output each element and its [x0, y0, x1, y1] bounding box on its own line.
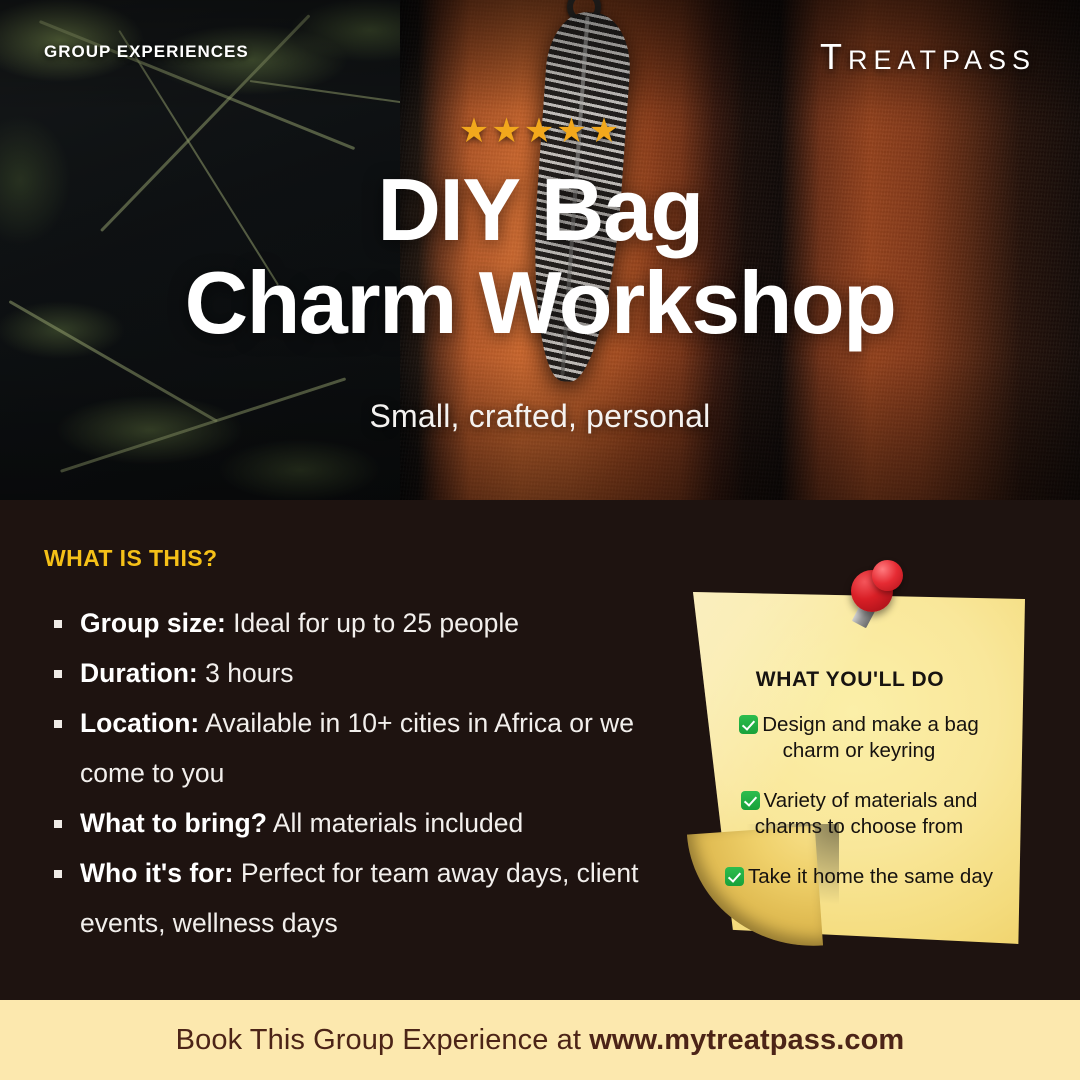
star-rating-icon: ★★★★★ [0, 114, 1080, 148]
list-item-label: Variety of materials and charms to choos… [755, 789, 978, 838]
section-heading: WHAT IS THIS? [44, 545, 217, 572]
list-item-value: All materials included [267, 808, 523, 838]
page-title: DIY Bag Charm Workshop [0, 163, 1080, 350]
list-item: Who it's for: Perfect for team away days… [44, 848, 644, 948]
list-item-value: 3 hours [198, 658, 294, 688]
list-item: Variety of materials and charms to choos… [719, 788, 999, 840]
list-item-label: Who it's for: [80, 858, 234, 888]
pushpin-icon [845, 560, 907, 638]
sticky-note-list: Design and make a bag charm or keyring V… [719, 712, 999, 914]
list-item: What to bring? All materials included [44, 798, 644, 848]
brand-logo-rest: REATPASS [848, 45, 1036, 75]
list-item-label: Design and make a bag charm or keyring [762, 713, 979, 762]
list-item-label: Take it home the same day [748, 865, 993, 888]
poster-canvas: GROUP EXPERIENCES TREATPASS ★★★★★ DIY Ba… [0, 0, 1080, 1080]
pushpin-cap [872, 560, 903, 591]
list-item: Duration: 3 hours [44, 648, 644, 698]
list-item-label: Duration: [80, 658, 198, 688]
list-item-label: Location: [80, 708, 199, 738]
page-title-line-2: Charm Workshop [0, 256, 1080, 349]
hero-banner: GROUP EXPERIENCES TREATPASS ★★★★★ DIY Ba… [0, 0, 1080, 500]
footer-cta-url[interactable]: www.mytreatpass.com [589, 1024, 904, 1056]
list-item: Design and make a bag charm or keyring [719, 712, 999, 764]
brand-logo-initial: T [820, 36, 848, 77]
page-title-line-1: DIY Bag [0, 163, 1080, 256]
list-item-label: What to bring? [80, 808, 267, 838]
sticky-note-title: WHAT YOU'LL DO [693, 668, 1007, 692]
eyebrow-label: GROUP EXPERIENCES [44, 42, 249, 62]
sticky-note: WHAT YOU'LL DO Design and make a bag cha… [693, 592, 1025, 944]
list-item-value: Ideal for up to 25 people [226, 608, 519, 638]
details-list: Group size: Ideal for up to 25 people Du… [44, 598, 644, 948]
list-item-label: Group size: [80, 608, 226, 638]
page-subtitle: Small, crafted, personal [0, 398, 1080, 435]
list-item: Location: Available in 10+ cities in Afr… [44, 698, 644, 798]
check-mark-icon [741, 791, 760, 810]
list-item: Group size: Ideal for up to 25 people [44, 598, 644, 648]
check-mark-icon [739, 715, 758, 734]
footer-cta-prefix: Book This Group Experience at [176, 1024, 590, 1056]
list-item: Take it home the same day [719, 864, 999, 890]
brand-logo: TREATPASS [820, 36, 1036, 78]
check-mark-icon [725, 867, 744, 886]
footer-cta-text: Book This Group Experience at www.mytrea… [176, 1024, 905, 1057]
footer-cta-bar: Book This Group Experience at www.mytrea… [0, 1000, 1080, 1080]
